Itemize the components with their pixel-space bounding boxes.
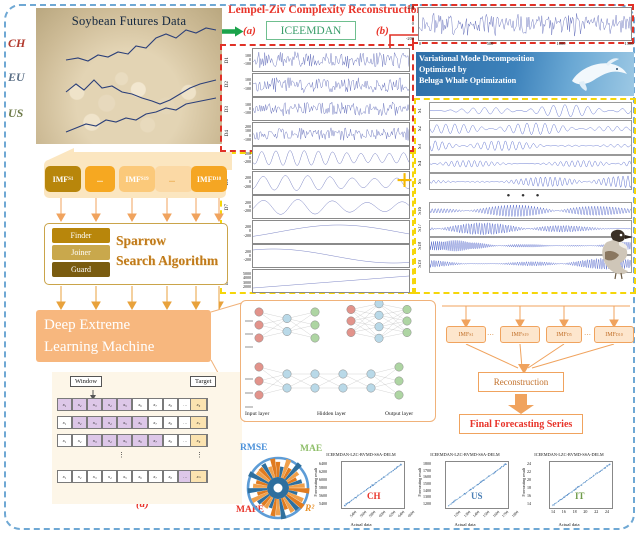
network-node — [339, 370, 347, 378]
iceemdan-row-ticks: 2000-200 — [235, 225, 252, 238]
iceemdan-row-d3: D31000-100 — [224, 97, 410, 121]
imf-chip-s1: IMFS1 — [45, 166, 81, 192]
window-vertical-dots: ⋮ — [196, 452, 203, 459]
scatter-xtick: 22 — [594, 509, 598, 514]
scatter-ytick: 16 — [527, 493, 531, 498]
xtick: 1500 — [625, 41, 634, 46]
scatter-ytick: 1200 — [423, 501, 431, 506]
window-row: x₁x₂x₃x₄x₅x₆x₇x₈…xₙ — [57, 398, 208, 409]
network-node — [347, 328, 355, 336]
beluga-whale-icon — [566, 55, 630, 93]
network-diagram — [241, 301, 436, 422]
scatter-ytick: 1800 — [423, 461, 431, 466]
ssa-title-line-1: Sparrow — [116, 231, 228, 251]
iceemdan-decomposition-column: D11000-100D21000-100D31000-100D42001000-… — [224, 48, 410, 291]
network-node — [339, 384, 347, 392]
scatter-xtick: 1300 — [463, 510, 471, 518]
network-node — [395, 363, 403, 371]
panel-tag-a: (a) — [243, 25, 256, 37]
scatter-xtick: 1500 — [482, 510, 490, 518]
reconstruction-box: Reconstruction — [478, 372, 564, 392]
nn-label-input: Input layer — [245, 411, 269, 417]
window-row: x₁x₂x₃x₄x₅x₆x₇x₈…xₙ — [57, 470, 208, 481]
window-cell: x₁ — [57, 416, 72, 429]
series-label-ch: CH — [8, 36, 25, 51]
imf-chip-dots-1: ... — [85, 166, 115, 192]
xtick: 1000 — [557, 41, 566, 46]
ssa-to-delm-arrows — [44, 286, 228, 310]
window-cell: x₈ — [163, 434, 178, 447]
scatter-ytick: 6400 — [319, 461, 327, 466]
vmd-row-plot — [429, 202, 632, 220]
imf-chip-s19: IMFS19 — [119, 166, 155, 192]
network-node — [283, 314, 291, 322]
iceemdan-row-ticks: 2000-200 — [235, 201, 252, 214]
vmd-row-label: S19 — [418, 260, 429, 268]
vmd-row-plot — [429, 137, 632, 155]
scatter-xlabel: Actual data — [415, 522, 515, 527]
vmd-row-label: S1 — [418, 108, 429, 113]
scatter-plot-area — [549, 461, 613, 509]
scatter-plot-it: ICEEMDAN-LZC-BVMD-SSA-DELMForecasting re… — [519, 452, 619, 530]
imf-chip-dots-4: ... — [155, 166, 189, 192]
recon-to-final-arrow — [506, 394, 536, 414]
window-cell: x₂ — [72, 416, 87, 429]
window-cell: x₂ — [72, 470, 87, 483]
scatter-plot-us: ICEEMDAN-LZC-BVMD-SSA-DELMForecasting re… — [415, 452, 515, 530]
window-cell: x₅ — [117, 470, 132, 483]
window-cell: x₂ — [72, 398, 87, 411]
window-caption: Window — [70, 376, 102, 387]
window-cell: x₈ — [163, 416, 178, 429]
vmd-row-label: S2 — [418, 126, 429, 131]
scatter-ylabel: Forecasting result — [417, 468, 422, 497]
scatter-market-label: US — [471, 491, 483, 501]
vmd-row-label: S4 — [418, 161, 429, 166]
vmd-row-plot — [429, 155, 632, 173]
scatter-xtick: 5800 — [369, 510, 377, 518]
ssa-title: Sparrow Search Algorithm — [116, 231, 228, 270]
vmd-row-plot — [429, 120, 632, 138]
iceemdan-row-plot — [252, 171, 410, 195]
iceemdan-row-ticks: 5000400030002000 — [235, 272, 252, 289]
network-node — [283, 370, 291, 378]
window-target-cell: x₇ — [190, 416, 207, 429]
iceemdan-row-d7: D72000-200 — [224, 195, 410, 219]
iceemdan-row-d2: D21000-100 — [224, 73, 410, 97]
scatter-xtick: 20 — [583, 509, 587, 514]
scatter-ytick: 5600 — [319, 493, 327, 498]
window-row: x₁x₂x₃x₄x₅x₆x₇x₈…xₙ — [57, 416, 208, 427]
recon-dots-1: ⋯ — [487, 331, 495, 339]
window-cell: x₃ — [87, 416, 102, 429]
scatter-ylabel: Forecasting result — [521, 468, 526, 497]
lzc-signal-plot — [418, 7, 632, 41]
ssa-role-finder: Finder — [52, 228, 110, 243]
recon-converge-arrows — [440, 344, 635, 374]
vmd-row-s2: S2 — [418, 120, 632, 137]
delm-text: Deep Extreme Learning Machine — [44, 315, 206, 359]
scatter-xtick: 5600 — [359, 510, 367, 518]
recon-input-arrows — [440, 300, 635, 328]
network-node — [395, 377, 403, 385]
window-cell: x₄ — [102, 470, 117, 483]
delm-line-1: Deep Extreme — [44, 315, 206, 337]
scatter-xtick: 16 — [562, 509, 566, 514]
iceemdan-row-d4: D42001000-100 — [224, 122, 410, 146]
window-target-cell: xₙ — [190, 470, 207, 483]
network-node — [395, 391, 403, 399]
iceemdan-row-label: D2 — [224, 81, 235, 87]
network-node — [347, 305, 355, 313]
network-node — [311, 308, 319, 316]
window-cell: x₂ — [72, 434, 87, 447]
vmd-row-s1: S1 — [418, 102, 632, 119]
plus-sign: + — [396, 166, 413, 196]
vmd-line-1: Variational Mode Decomposition — [419, 54, 569, 65]
scatter-xtick: 24 — [605, 509, 609, 514]
scatter-ytick: 5800 — [319, 485, 327, 490]
series-label-us: US — [8, 106, 23, 121]
iceemdan-row-ticks: 2000-200 — [235, 176, 252, 189]
iceemdan-row-label: D1 — [224, 57, 235, 63]
final-forecast-box: Final Forecasting Series — [459, 414, 583, 434]
iceemdan-row-ticks: 1000-100 — [235, 54, 252, 67]
nn-label-output: Output layer — [385, 411, 413, 417]
iceemdan-row-d9: D92000-200 — [224, 244, 410, 268]
iceemdan-row-d5: D52000-200 — [224, 146, 410, 170]
scatter-xtick: 1200 — [453, 510, 461, 518]
ssa-role-guard: Guard — [52, 262, 110, 277]
iceemdan-row-plot — [252, 220, 410, 244]
network-node — [311, 334, 319, 342]
window-cell: x₈ — [163, 398, 178, 411]
recon-chip-s1: IMFS1 — [446, 326, 486, 343]
vmd-row-label: S3 — [418, 144, 429, 149]
scatter-ytick: 1500 — [423, 481, 431, 486]
window-cell: x₆ — [132, 434, 147, 447]
series-line-ch — [66, 28, 216, 61]
iceemdan-row-ticks: 1000-100 — [235, 78, 252, 91]
series-line-us — [66, 98, 216, 132]
window-cell: x₃ — [87, 470, 102, 483]
scatter-ytick: 1300 — [423, 494, 431, 499]
scatter-xtick: 6400 — [398, 510, 406, 518]
iceemdan-row-d6: D62000-200 — [224, 171, 410, 195]
window-cell: x₇ — [148, 470, 163, 483]
ytick: 0 — [412, 21, 414, 26]
network-node — [375, 334, 383, 342]
recon-chip-s19: IMFS19 — [500, 326, 540, 343]
network-node — [255, 363, 263, 371]
network-node — [255, 334, 263, 342]
iceemdan-row-label: D3 — [224, 106, 235, 112]
network-node — [283, 327, 291, 335]
scatter-xtick: 6200 — [388, 510, 396, 518]
green-arrow-icon — [222, 26, 244, 37]
network-node — [367, 384, 375, 392]
window-cell: x₅ — [117, 398, 132, 411]
scatter-xtick: 5400 — [349, 510, 357, 518]
scatter-xtick: 6000 — [378, 510, 386, 518]
window-cell: x₇ — [148, 416, 163, 429]
soybean-photo-panel: Soybean Futures Data — [36, 8, 222, 144]
iceemdan-row-d10: D105000400030002000 — [224, 269, 410, 293]
scatter-ytick: 1400 — [423, 488, 431, 493]
scatter-xtick: 1600 — [492, 510, 500, 518]
iceemdan-row-plot — [252, 122, 410, 146]
iceemdan-row-label: D4 — [224, 130, 235, 136]
ssa-title-line-2: Search Algorithm — [116, 251, 228, 271]
ytick: 200 — [407, 5, 414, 10]
network-node — [311, 370, 319, 378]
window-cell: x₇ — [148, 398, 163, 411]
scatter-ytick: 22 — [527, 469, 531, 474]
window-target-cell: x₈ — [190, 434, 207, 447]
network-node — [255, 377, 263, 385]
scatter-title: ICEEMDAN-LZC-BVMD-SSA-DELM — [415, 452, 515, 457]
window-cell: x₆ — [132, 470, 147, 483]
iceemdan-row-plot — [252, 269, 410, 293]
vmd-row-s16: S16 — [418, 202, 632, 219]
window-cell: x₄ — [102, 434, 117, 447]
ssa-role-joiner: Joiner — [52, 245, 110, 260]
recon-chip-d5: IMFD5 — [546, 326, 582, 343]
window-cell: x₆ — [132, 416, 147, 429]
vmd-row-label: S16 — [418, 207, 429, 215]
iceemdan-row-plot — [252, 244, 410, 268]
scatter-ytick: 5400 — [319, 501, 327, 506]
window-cell: x₃ — [87, 398, 102, 411]
scatter-xlabel: Actual data — [519, 522, 619, 527]
window-cell: x₁ — [57, 470, 72, 483]
scatter-plot-area — [341, 461, 405, 509]
window-cell: x₅ — [117, 416, 132, 429]
nn-label-hidden: Hidden layer — [317, 411, 346, 417]
recon-dots-2: ⋯ — [584, 331, 592, 339]
window-cell: x₈ — [163, 470, 178, 483]
scatter-ytick: 1700 — [423, 468, 431, 473]
xtick: 500 — [487, 41, 494, 46]
iceemdan-label: ICEEMDAN — [266, 21, 356, 40]
recon-chip-d10: IMFD10 — [594, 326, 634, 343]
scatter-xtick: 1400 — [473, 510, 481, 518]
series-line-eu — [66, 80, 216, 104]
iceemdan-row-d1: D11000-100 — [224, 48, 410, 72]
network-node — [375, 301, 383, 308]
scatter-ylabel: Forecasting result — [313, 468, 318, 497]
network-node — [283, 384, 291, 392]
window-target-cell: x₆ — [190, 398, 207, 411]
scatter-xtick: 1700 — [502, 510, 510, 518]
scatter-title: ICEEMDAN-LZC-BVMD-SSA-DELM — [311, 452, 411, 457]
photo-title: Soybean Futures Data — [36, 14, 222, 29]
iceemdan-row-d8: D82000-200 — [224, 220, 410, 244]
scatter-market-label: CH — [367, 491, 381, 501]
vmd-row-label: S18 — [418, 242, 429, 250]
figure-root: Soybean Futures Data CH EU US Lempel-Ziv… — [0, 0, 639, 534]
window-cell: x₁ — [57, 434, 72, 447]
lzc-signal-xaxis: 0 500 1000 1500 — [418, 41, 632, 49]
network-node — [403, 328, 411, 336]
scatter-ytick: 14 — [527, 501, 531, 506]
scatter-title: ICEEMDAN-LZC-BVMD-SSA-DELM — [519, 452, 619, 457]
iceemdan-row-plot — [252, 97, 410, 121]
delm-line-2: Learning Machine — [44, 337, 206, 359]
ytick: -200 — [406, 36, 414, 41]
scatter-ytick: 6000 — [319, 477, 327, 482]
window-cell: x₇ — [148, 434, 163, 447]
iceemdan-row-ticks: 2000-200 — [235, 152, 252, 165]
network-node — [375, 323, 383, 331]
network-node — [255, 321, 263, 329]
iceemdan-row-plot — [252, 48, 410, 72]
iceemdan-row-ticks: 2001000-100 — [235, 125, 252, 142]
iceemdan-row-ticks: 1000-100 — [235, 103, 252, 116]
vmd-row-s3: S3 — [418, 138, 632, 155]
scatter-ytick: 1600 — [423, 474, 431, 479]
scatter-ytick: 20 — [527, 477, 531, 482]
vmd-row-s4: S4 — [418, 155, 632, 172]
network-node — [311, 321, 319, 329]
vmd-line-2: Optimized by — [419, 65, 569, 76]
target-caption: Target — [190, 376, 216, 387]
window-cell: x₅ — [117, 434, 132, 447]
window-cell: x₄ — [102, 398, 117, 411]
scatter-xtick: 14 — [551, 509, 555, 514]
xtick: 0 — [419, 41, 421, 46]
window-vertical-dots: ⋮ — [118, 452, 125, 459]
vmd-row-plot — [429, 102, 632, 120]
delm-network-panel — [240, 300, 436, 422]
vmd-row-s5: S5 — [418, 173, 632, 190]
network-node — [367, 370, 375, 378]
vmd-ellipsis: • • • — [418, 191, 632, 202]
scatter-ytick: 18 — [527, 485, 531, 490]
iceemdan-row-ticks: 2000-200 — [235, 250, 252, 263]
network-node — [403, 305, 411, 313]
window-row: x₁x₂x₃x₄x₅x₆x₇x₈…xₙ — [57, 434, 208, 445]
network-node — [347, 317, 355, 325]
scatter-xtick: 18 — [573, 509, 577, 514]
iceemdan-row-plot — [252, 146, 410, 170]
scatter-ytick: 24 — [527, 461, 531, 466]
scatter-ytick: 6200 — [319, 469, 327, 474]
scatter-market-label: IT — [575, 491, 585, 501]
iceemdan-row-plot — [252, 73, 410, 97]
metrics-radar-chart — [240, 452, 316, 524]
vmd-row-label: S5 — [418, 179, 429, 184]
vmd-row-plot — [429, 173, 632, 191]
vmd-row-label: S17 — [418, 224, 429, 232]
window-cell: x₁ — [57, 398, 72, 411]
network-node — [255, 391, 263, 399]
iceemdan-row-plot — [252, 195, 410, 219]
network-node — [403, 317, 411, 325]
sparrow-bird-icon — [591, 228, 635, 280]
scatter-xlabel: Actual data — [311, 522, 411, 527]
series-label-eu: EU — [8, 70, 25, 85]
network-node — [255, 308, 263, 316]
vmd-line-3: Beluga Whale Optimization — [419, 76, 569, 87]
imf-chip-d10: IMFD10 — [191, 166, 227, 192]
network-node — [311, 384, 319, 392]
scatter-plot-area — [445, 461, 509, 509]
scatter-plot-ch: ICEEMDAN-LZC-BVMD-SSA-DELMForecasting re… — [311, 452, 411, 530]
vmd-banner-text: Variational Mode Decomposition Optimized… — [419, 54, 569, 86]
network-node — [375, 311, 383, 319]
window-cell: x₆ — [132, 398, 147, 411]
window-cell: x₄ — [102, 416, 117, 429]
imf-to-ssa-arrows — [44, 198, 228, 222]
window-cell: x₃ — [87, 434, 102, 447]
